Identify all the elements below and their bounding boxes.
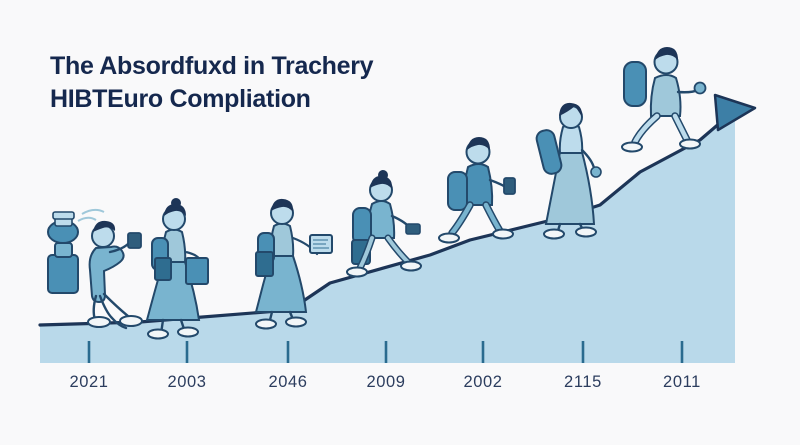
- figure-woman-with-yoga-mat: [535, 103, 601, 239]
- chart-title-line-1: The Absordfuxd in Trachery: [50, 50, 373, 83]
- chart-title: The Absordfuxd in Trachery HIBTEuro Comp…: [50, 50, 373, 116]
- x-axis-label-4: 2002: [463, 373, 502, 392]
- x-axis-label-5: 2115: [564, 373, 602, 392]
- x-axis-label-2: 2046: [268, 373, 307, 392]
- figure-walking-man-with-phone: [439, 137, 515, 243]
- axis-band: [40, 333, 735, 363]
- x-axis-label-3: 2009: [366, 373, 405, 392]
- chart-title-line-2: HIBTEuro Compliation: [50, 83, 373, 116]
- figure-stepping-person-with-backpack: [347, 170, 421, 277]
- figure-running-man-with-backpack: [622, 47, 706, 152]
- x-axis-label-6: 2011: [663, 373, 701, 392]
- figure-seated-traveler-with-coffee: [48, 210, 142, 328]
- infographic-canvas: The Absordfuxd in Trachery HIBTEuro Comp…: [0, 0, 800, 445]
- x-axis-label-1: 2003: [167, 373, 206, 392]
- x-axis-label-0: 2021: [69, 373, 108, 392]
- figure-walking-woman-with-bags: [147, 198, 208, 339]
